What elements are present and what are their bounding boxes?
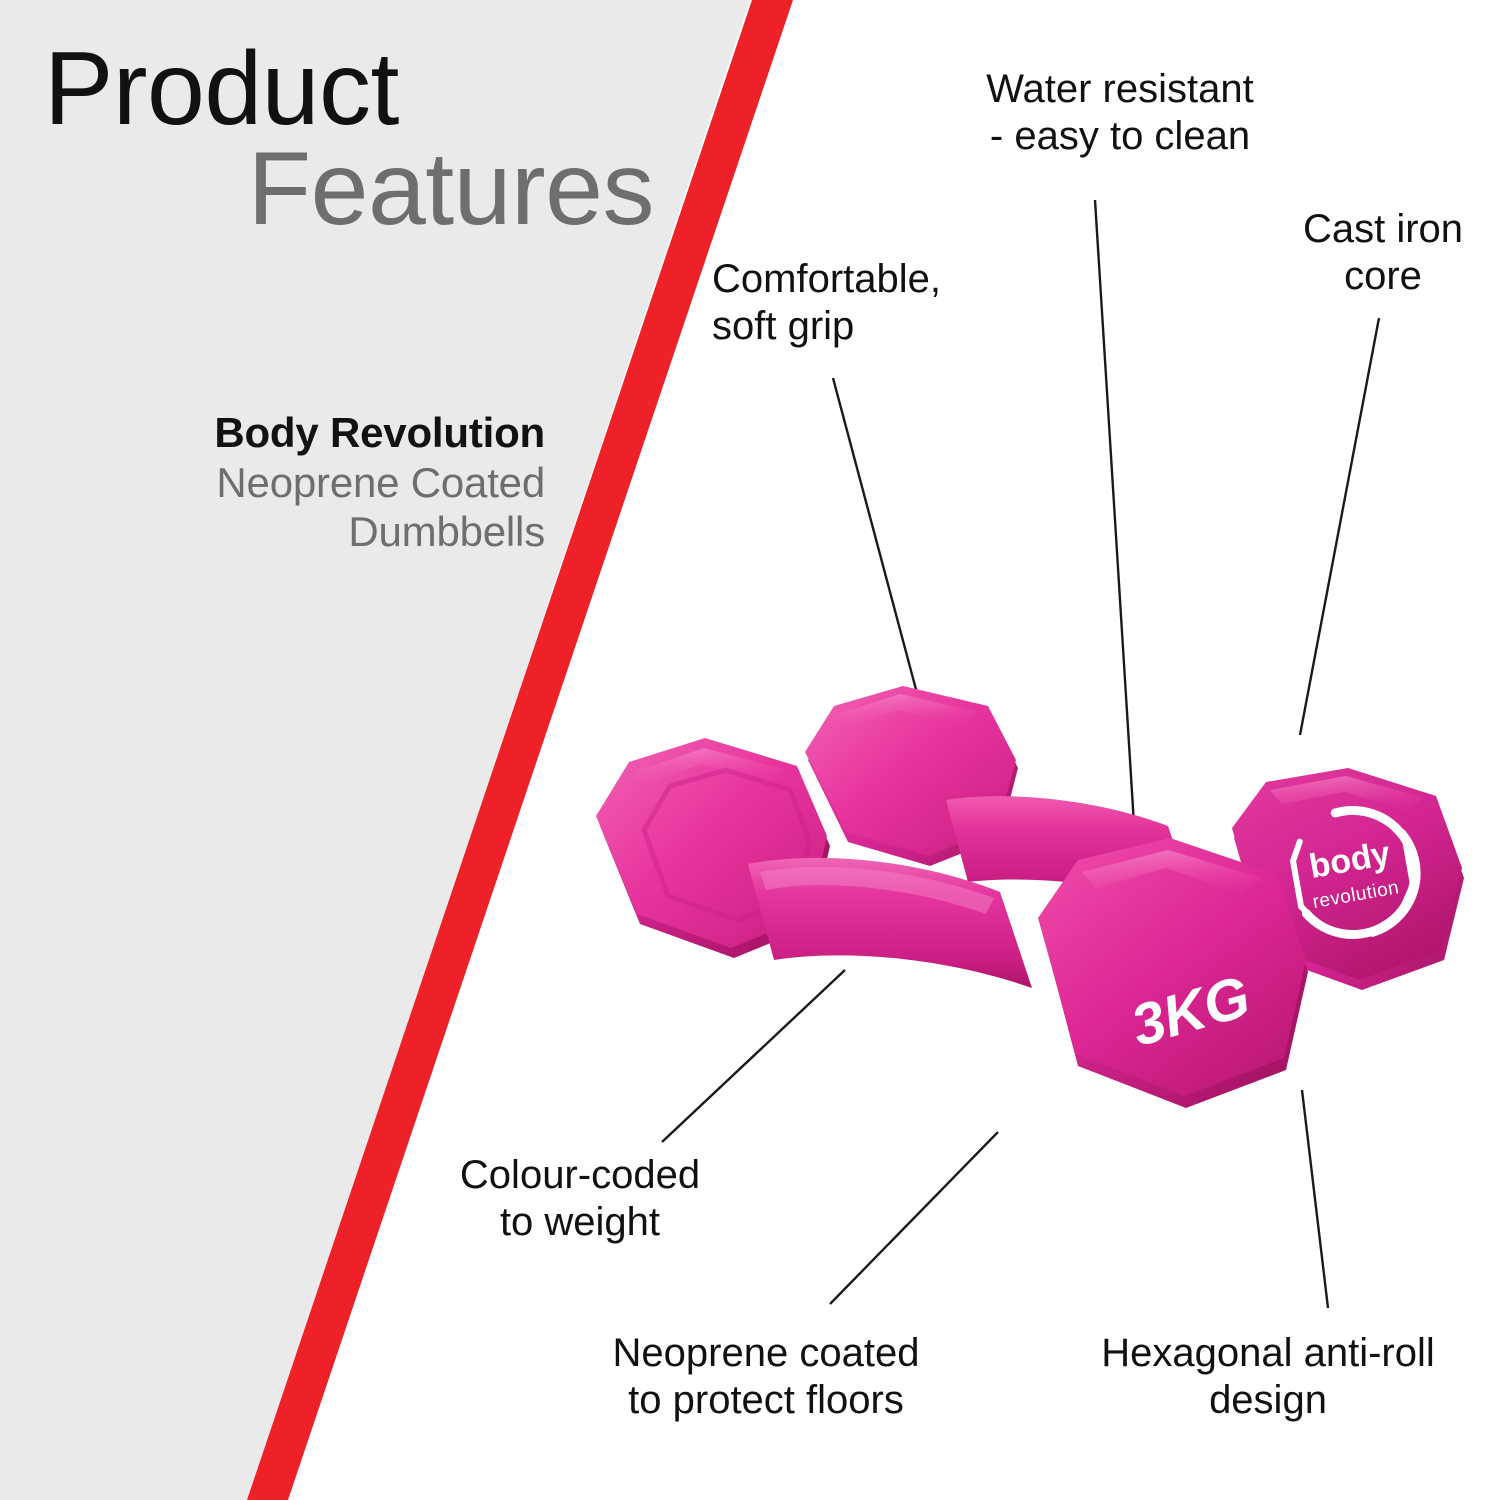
callout-comfortable-grip: Comfortable, soft grip (712, 256, 1002, 350)
callout-hexagonal-design: Hexagonal anti-roll design (1058, 1330, 1478, 1424)
callout-cast-iron-core: Cast iron core (1268, 206, 1498, 300)
callout-water-resistant: Water resistant - easy to clean (950, 66, 1290, 160)
callout-colour-coded: Colour-coded to weight (430, 1152, 730, 1246)
product-features-infographic: Product Features Body Revolution Neopren… (0, 0, 1500, 1500)
callout-neoprene-coated: Neoprene coated to protect floors (566, 1330, 966, 1424)
front-near-hex-cap-3kg: 3KG (1038, 838, 1308, 1108)
